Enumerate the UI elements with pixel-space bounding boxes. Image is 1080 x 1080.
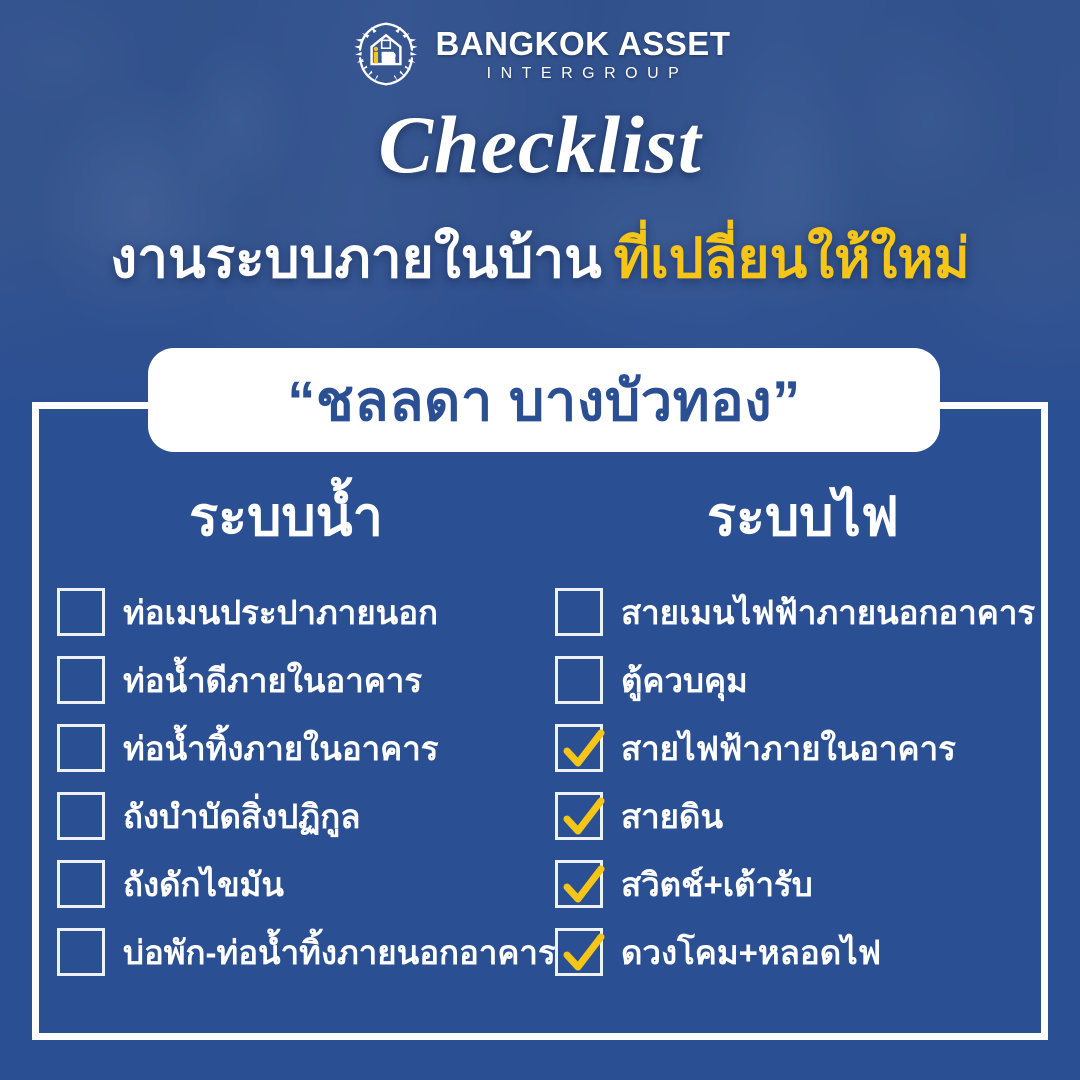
list-item[interactable]: ถังดักไขมัน xyxy=(57,860,540,908)
list-item-label: ท่อน้ำดีภายในอาคาร xyxy=(123,664,422,697)
house-laurel-wreath-icon xyxy=(350,18,422,90)
brand-logo: BANGKOK ASSET INTERGROUP xyxy=(0,18,1080,90)
list-item[interactable]: ท่อน้ำดีภายในอาคาร xyxy=(57,656,540,704)
list-item-label: ท่อน้ำทิ้งภายในอาคาร xyxy=(123,732,439,765)
column-title-water: ระบบน้ำ xyxy=(32,470,540,544)
checkbox-unchecked-icon[interactable] xyxy=(555,588,603,636)
checklist-items-water: ท่อเมนประปาภายนอก ท่อน้ำดีภายในอาคาร ท่อ… xyxy=(32,588,540,976)
checklist-column-water: ระบบน้ำ ท่อเมนประปาภายนอก ท่อน้ำดีภายในอ… xyxy=(32,470,540,1030)
list-item-label: สายไฟฟ้าภายในอาคาร xyxy=(621,732,956,765)
checkbox-checked-icon[interactable] xyxy=(555,724,603,772)
list-item-label: ท่อเมนประปาภายนอก xyxy=(123,596,438,629)
checkbox-unchecked-icon[interactable] xyxy=(555,656,603,704)
list-item[interactable]: บ่อพัก-ท่อน้ำทิ้งภายนอกอาคาร xyxy=(57,928,540,976)
brand-wordmark: BANGKOK ASSET INTERGROUP xyxy=(436,27,731,82)
list-item-label: สายดิน xyxy=(621,800,723,833)
page-subtitle: งานระบบภายในบ้านที่เปลี่ยนให้ใหม่ xyxy=(0,228,1080,289)
project-name-banner: “ชลลดา บางบัวทอง” xyxy=(148,348,940,452)
page-title: Checklist xyxy=(0,98,1080,192)
list-item-label: ตู้ควบคุม xyxy=(621,664,748,697)
checkbox-checked-icon[interactable] xyxy=(555,928,603,976)
checkbox-unchecked-icon[interactable] xyxy=(57,724,105,772)
list-item[interactable]: ดวงโคม+หลอดไฟ xyxy=(555,928,1048,976)
list-item-label: ถังดักไขมัน xyxy=(123,868,284,901)
brand-name: BANGKOK ASSET xyxy=(436,27,731,60)
list-item-label: สายเมนไฟฟ้าภายนอกอาคาร xyxy=(621,596,1035,629)
list-item[interactable]: ท่อน้ำทิ้งภายในอาคาร xyxy=(57,724,540,772)
checkbox-unchecked-icon[interactable] xyxy=(57,860,105,908)
checklist-items-electrical: สายเมนไฟฟ้าภายนอกอาคาร ตู้ควบคุม สายไฟฟ้… xyxy=(540,588,1048,976)
checkbox-unchecked-icon[interactable] xyxy=(57,792,105,840)
subtitle-highlight-text: ที่เปลี่ยนให้ใหม่ xyxy=(614,227,970,289)
checkbox-unchecked-icon[interactable] xyxy=(57,928,105,976)
list-item[interactable]: สายดิน xyxy=(555,792,1048,840)
list-item[interactable]: สายไฟฟ้าภายในอาคาร xyxy=(555,724,1048,772)
list-item[interactable]: ถังบำบัดสิ่งปฏิกูล xyxy=(57,792,540,840)
brand-tagline: INTERGROUP xyxy=(487,66,689,82)
checklist-column-electrical: ระบบไฟ สายเมนไฟฟ้าภายนอกอาคาร ตู้ควบคุม xyxy=(540,470,1048,1030)
checkbox-checked-icon[interactable] xyxy=(555,860,603,908)
checkbox-unchecked-icon[interactable] xyxy=(57,656,105,704)
checkbox-checked-icon[interactable] xyxy=(555,792,603,840)
list-item-label: ดวงโคม+หลอดไฟ xyxy=(621,936,881,969)
project-name-label: “ชลลดา บางบัวทอง” xyxy=(287,356,800,445)
list-item-label: สวิตช์+เต้ารับ xyxy=(621,868,813,901)
subtitle-primary-text: งานระบบภายในบ้าน xyxy=(110,227,601,289)
column-title-electrical: ระบบไฟ xyxy=(540,470,1048,544)
list-item[interactable]: สวิตช์+เต้ารับ xyxy=(555,860,1048,908)
list-item[interactable]: ตู้ควบคุม xyxy=(555,656,1048,704)
checklist-poster: BANGKOK ASSET INTERGROUP Checklist งานระ… xyxy=(0,0,1080,1080)
list-item[interactable]: สายเมนไฟฟ้าภายนอกอาคาร xyxy=(555,588,1048,636)
checklist-columns: ระบบน้ำ ท่อเมนประปาภายนอก ท่อน้ำดีภายในอ… xyxy=(32,470,1048,1030)
checkbox-unchecked-icon[interactable] xyxy=(57,588,105,636)
list-item-label: บ่อพัก-ท่อน้ำทิ้งภายนอกอาคาร xyxy=(123,936,556,969)
list-item[interactable]: ท่อเมนประปาภายนอก xyxy=(57,588,540,636)
list-item-label: ถังบำบัดสิ่งปฏิกูล xyxy=(123,800,361,833)
